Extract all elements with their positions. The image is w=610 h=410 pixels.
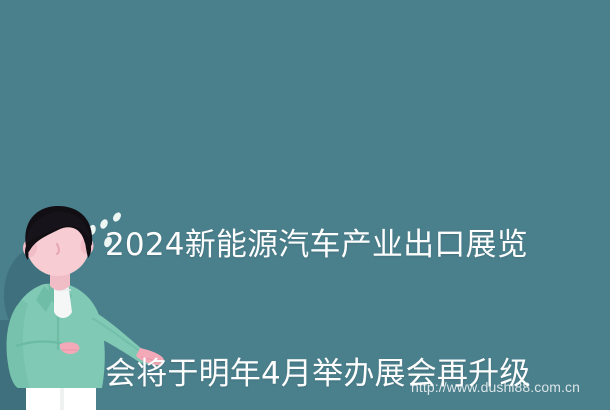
headline-line-1: 2024新能源汽车产业出口展览 — [105, 224, 565, 267]
news-banner: 2024新能源汽车产业出口展览 会将于明年4月举办展会再升级 http://ww… — [0, 0, 610, 410]
source-url-watermark: http://www.dushi88.com.cn — [411, 378, 580, 396]
page-title: 2024新能源汽车产业出口展览 会将于明年4月举办展会再升级 — [105, 138, 565, 410]
